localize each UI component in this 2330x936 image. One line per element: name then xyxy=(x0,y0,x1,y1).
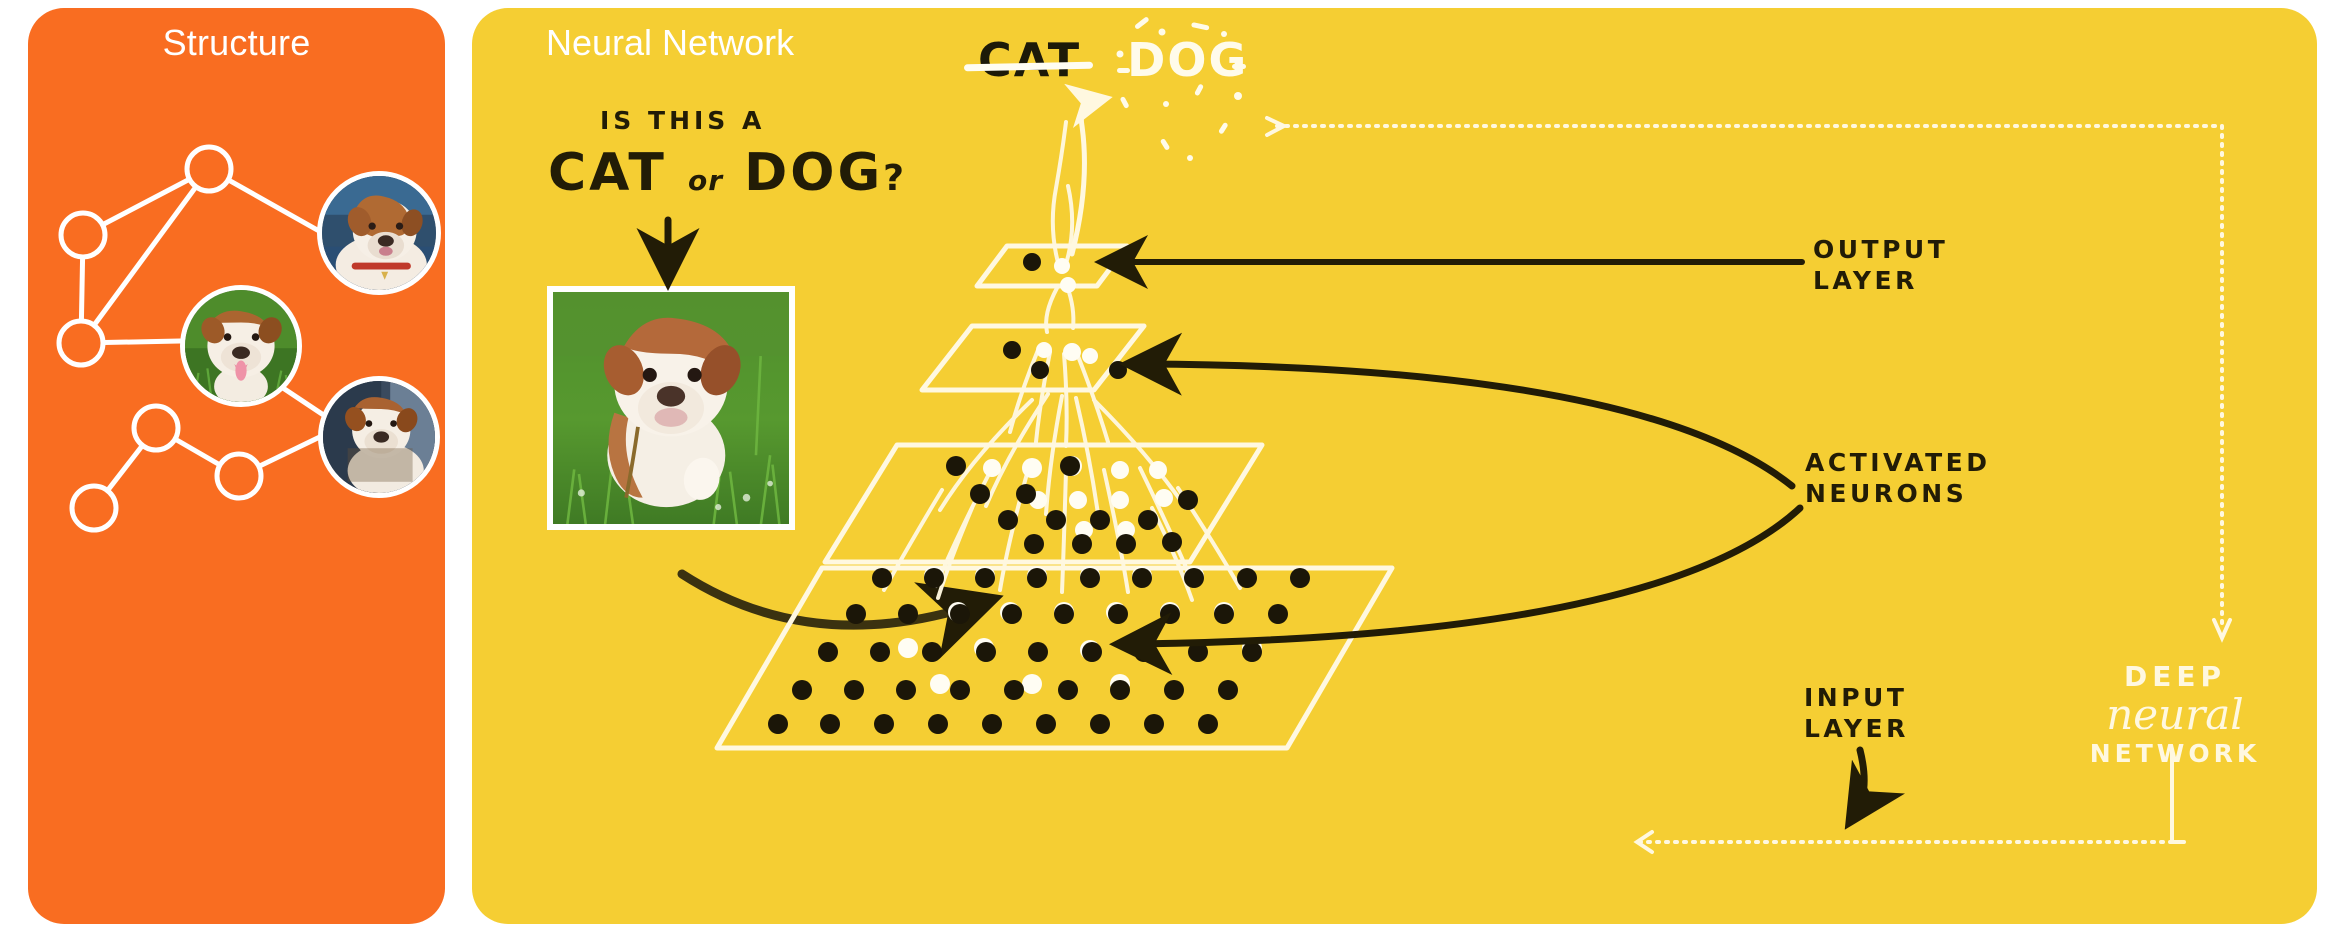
layer-plane-output xyxy=(977,246,1127,286)
graph-node xyxy=(187,147,231,191)
dog-bubble-bottom xyxy=(318,376,440,498)
deep-neural-network-label: DEEP neural NETWORK xyxy=(2070,660,2280,768)
activated-neurons-label: ACTIVATED NEURONS xyxy=(1805,448,1991,509)
structure-panel: Structure xyxy=(28,8,445,924)
neural-network-panel: Neural Network CATDOG IS THIS A CAT or D… xyxy=(472,8,2317,924)
graph-node xyxy=(59,321,103,365)
activated-neurons-pointer-mid xyxy=(1130,508,1800,644)
input-layer-pointer xyxy=(1856,750,1864,812)
network-diagram xyxy=(472,8,2317,924)
infographic-canvas: Structure xyxy=(0,0,2330,936)
dog-bubble-middle xyxy=(180,285,302,407)
activated-neurons-pointer-upper xyxy=(1140,364,1792,486)
graph-node xyxy=(217,454,261,498)
graph-node xyxy=(72,486,116,530)
output-layer-label: OUTPUT LAYER xyxy=(1813,235,1948,296)
bulldog-headshot-photo xyxy=(322,176,436,290)
network-word: NETWORK xyxy=(2070,739,2280,768)
dog-bubble-top xyxy=(317,171,441,295)
input-layer-label: INPUT LAYER xyxy=(1804,683,1909,744)
graph-node xyxy=(134,406,178,450)
bulldog-portrait-photo xyxy=(323,381,435,493)
neural-word: neural xyxy=(2070,694,2280,737)
graph-node xyxy=(61,213,105,257)
activated-neuron-dots xyxy=(898,258,1262,694)
output-to-verdict-arrow xyxy=(1072,100,1098,254)
bulldog-on-grass-photo xyxy=(185,290,297,402)
deep-word: DEEP xyxy=(2070,660,2280,693)
